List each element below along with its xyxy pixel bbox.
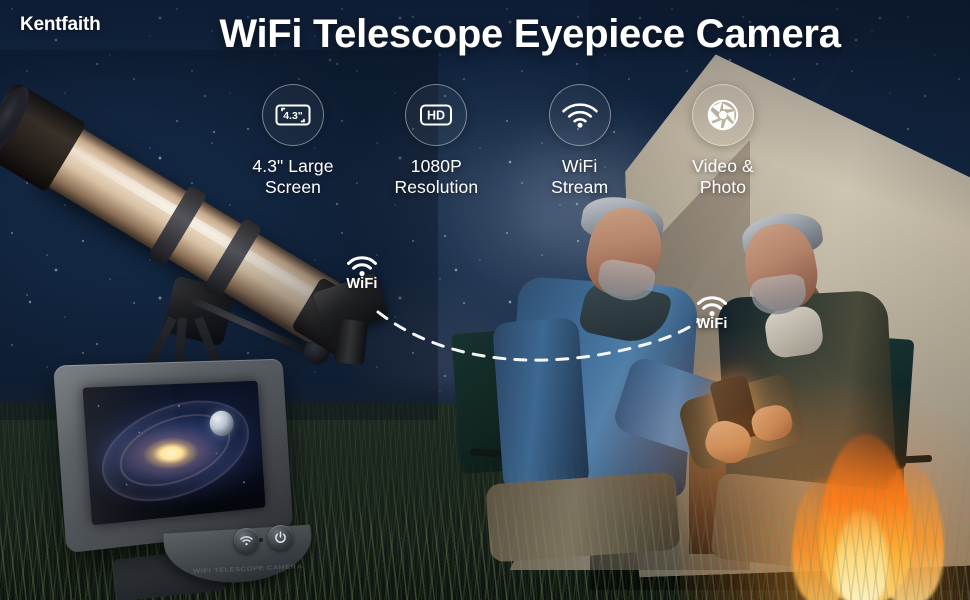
feature-label: Video &Photo <box>658 156 788 198</box>
svg-text:HD: HD <box>427 108 445 122</box>
screen-size-icon: 4.3" <box>273 100 313 130</box>
feature-icon-ring: HD <box>405 84 467 146</box>
indicator-led <box>259 538 263 542</box>
wifi-callout-telescope: WiFi <box>329 256 395 292</box>
wifi-callout-phone: WiFi <box>679 296 745 332</box>
brand-logo: Kentfaith <box>20 14 101 36</box>
eyepiece-barrel <box>334 319 368 366</box>
feature-icon-ring <box>549 84 611 146</box>
svg-text:4.3": 4.3" <box>283 110 303 122</box>
camera-aperture-icon <box>705 97 741 133</box>
feature-screen-size: 4.3" 4.3" LargeScreen <box>228 84 358 198</box>
wifi-callout-label: WiFi <box>329 276 395 292</box>
hd-badge-icon: HD <box>417 101 455 129</box>
wifi-icon <box>240 536 253 546</box>
wifi-callout-label: WiFi <box>679 316 745 332</box>
feature-label: 1080PResolution <box>371 156 501 198</box>
feature-badge-list: 4.3" 4.3" LargeScreen HD 1080PResolution <box>228 84 788 198</box>
product-banner: WIFI TELESCOPE CAMERA <box>0 0 970 600</box>
power-button[interactable] <box>268 525 293 550</box>
feature-video-photo: Video &Photo <box>658 84 788 198</box>
device-display <box>82 381 265 526</box>
feature-label: WiFiStream <box>515 156 645 198</box>
feature-resolution: HD 1080PResolution <box>371 84 501 198</box>
wifi-signal-icon <box>329 256 395 277</box>
monitor-screen-device: WIFI TELESCOPE CAMERA <box>56 358 326 593</box>
feature-wifi-stream: WiFiStream <box>515 84 645 198</box>
wifi-button[interactable] <box>234 528 259 553</box>
page-title: WiFi Telescope Eyepiece Camera <box>150 8 910 60</box>
power-icon <box>274 531 287 544</box>
feature-label: 4.3" LargeScreen <box>228 156 358 198</box>
feature-icon-ring <box>692 84 754 146</box>
wifi-signal-icon <box>679 296 745 317</box>
wifi-signal-icon <box>560 101 600 129</box>
device-housing <box>53 359 293 554</box>
device-emboss-text: WIFI TELESCOPE CAMERA <box>185 554 311 584</box>
feature-icon-ring: 4.3" <box>262 84 324 146</box>
